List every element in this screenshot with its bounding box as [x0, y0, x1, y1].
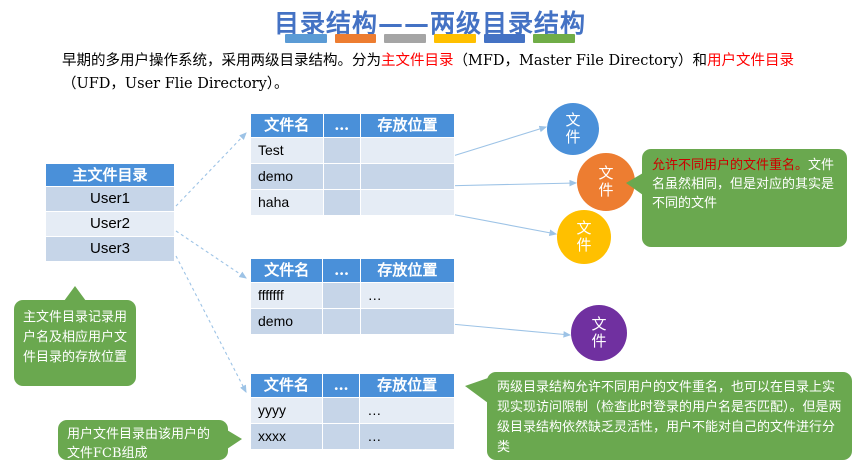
ufd3-r1-loc: … [360, 398, 455, 424]
table-row[interactable]: fffffff … [251, 283, 455, 309]
ufd3-header-location: 存放位置 [360, 374, 455, 398]
table-row[interactable]: haha [251, 190, 455, 216]
table-row[interactable]: yyyy … [251, 398, 455, 424]
ufd1-r1-mid [323, 138, 360, 164]
ufd3-r1-mid [322, 398, 360, 424]
ufd1-header-ellipsis: … [323, 114, 360, 138]
callout-summary-text: 两级目录结构允许不同用户的文件重名，也可以在目录上实现实现访问限制（检查此时登录… [497, 380, 842, 455]
callout-mfd-note: 主文件目录记录用户名及相应用户文件目录的存放位置 [14, 300, 136, 386]
callout-ufd-note: 用户文件目录由该用户的文件FCB组成 [58, 420, 228, 460]
mfd-header: 主文件目录 [46, 164, 175, 187]
ufd1-r3-loc [361, 190, 455, 216]
ufd3-r1-name: yyyy [251, 398, 323, 424]
para-seg-ufd: 用户文件目录 [707, 53, 794, 69]
callout-summary: 两级目录结构允许不同用户的文件重名，也可以在目录上实现实现访问限制（检查此时登录… [487, 372, 852, 460]
callout-rename-tail [626, 173, 643, 195]
ufd3-header-ellipsis: … [322, 374, 360, 398]
ufd3-header-name: 文件名 [251, 374, 323, 398]
accent-bar-3 [384, 34, 426, 43]
callout-mfd-note-tail [64, 286, 86, 301]
mfd-row-user2[interactable]: User2 [46, 212, 175, 237]
ufd3-r2-mid [322, 424, 360, 450]
ufd3-r2-name: xxxx [251, 424, 323, 450]
para-seg-1: 早期的多用户操作系统，采用两级目录结构。分为 [62, 53, 381, 69]
para-seg-3: （MFD，Master File Directory）和 [454, 53, 708, 69]
table-row[interactable]: xxxx … [251, 424, 455, 450]
title-accent-bars [285, 34, 575, 43]
ufd2-r2-name: demo [251, 309, 323, 335]
file-circle-orange-label: 文件 [599, 165, 614, 199]
ufd3-r2-loc: … [360, 424, 455, 450]
para-seg-5: （UFD，User Flie Directory）。 [62, 76, 289, 92]
table-row[interactable]: Test [251, 138, 455, 164]
callout-rename: 允许不同用户的文件重名。文件名虽然相同，但是对应的其实是不同的文件 [642, 149, 847, 247]
ufd2-r1-loc: … [360, 283, 454, 309]
mfd-row-user3[interactable]: User3 [46, 237, 175, 262]
accent-bar-1 [285, 34, 327, 43]
ufd1-r1-name: Test [251, 138, 324, 164]
ufd-table-3: 文件名 … 存放位置 yyyy … xxxx … [250, 373, 455, 450]
ufd1-header-location: 存放位置 [361, 114, 455, 138]
ufd1-r1-loc [361, 138, 455, 164]
ufd1-header-name: 文件名 [251, 114, 324, 138]
file-circle-blue[interactable]: 文件 [547, 103, 599, 155]
ufd-table-2: 文件名 … 存放位置 fffffff … demo [250, 258, 455, 335]
ufd2-header-location: 存放位置 [360, 259, 454, 283]
file-circle-purple[interactable]: 文件 [571, 305, 627, 361]
accent-bar-6 [533, 34, 575, 43]
accent-bar-2 [335, 34, 377, 43]
ufd1-r2-name: demo [251, 164, 324, 190]
table-row[interactable]: demo [251, 164, 455, 190]
table-row[interactable]: demo [251, 309, 455, 335]
ufd-table-1: 文件名 … 存放位置 Test demo haha [250, 113, 455, 216]
ufd1-r2-mid [323, 164, 360, 190]
ufd2-r1-name: fffffff [251, 283, 323, 309]
intro-paragraph: 早期的多用户操作系统，采用两级目录结构。分为主文件目录（MFD，Master F… [62, 50, 822, 96]
callout-ufd-note-tail [227, 430, 242, 449]
para-seg-mfd: 主文件目录 [381, 53, 454, 69]
ufd2-header-name: 文件名 [251, 259, 323, 283]
callout-summary-tail [465, 378, 488, 403]
file-circle-yellow-label: 文件 [577, 220, 592, 254]
mfd-table: 主文件目录 User1 User2 User3 [45, 163, 175, 262]
accent-bar-5 [484, 34, 526, 43]
file-circle-yellow[interactable]: 文件 [557, 210, 611, 264]
accent-bar-4 [434, 34, 476, 43]
callout-ufd-note-text: 用户文件目录由该用户的文件FCB组成 [67, 427, 210, 461]
ufd1-r3-mid [323, 190, 360, 216]
ufd1-r2-loc [361, 164, 455, 190]
file-circle-blue-label: 文件 [566, 112, 581, 146]
file-circle-purple-label: 文件 [592, 316, 607, 350]
mfd-row-user1[interactable]: User1 [46, 187, 175, 212]
callout-mfd-note-text: 主文件目录记录用户名及相应用户文件目录的存放位置 [23, 310, 127, 365]
ufd2-r2-loc [360, 309, 454, 335]
callout-rename-red: 允许不同用户的文件重名。 [652, 158, 808, 173]
ufd1-r3-name: haha [251, 190, 324, 216]
ufd2-r2-mid [323, 309, 360, 335]
ufd2-header-ellipsis: … [323, 259, 360, 283]
slide-canvas: 目录结构——两级目录结构 早期的多用户操作系统，采用两级目录结构。分为主文件目录… [0, 0, 860, 463]
ufd2-r1-mid [323, 283, 360, 309]
